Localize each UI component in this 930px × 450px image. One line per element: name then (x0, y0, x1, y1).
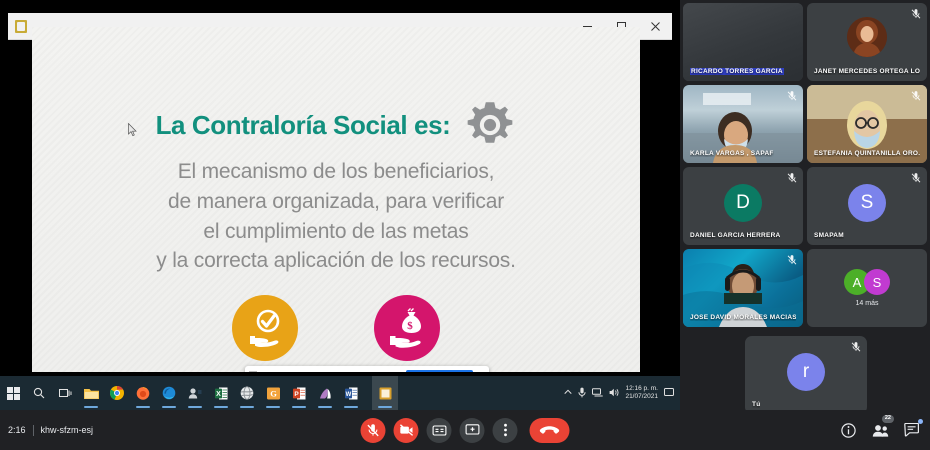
self-view-label: Tú (752, 401, 760, 408)
show-everyone-button[interactable]: 22 (871, 421, 889, 439)
tray-clock[interactable]: 12:16 p. m. 21/07/2021 (625, 385, 658, 401)
meeting-elapsed-time: 2:16 (8, 425, 26, 435)
more-vertical-icon (503, 423, 507, 437)
slide-title-row: La Contraloría Social es: (32, 99, 640, 151)
participant-row: D DANIEL GARCIA HERRERA S (683, 167, 927, 245)
edge-icon (162, 386, 176, 400)
avatar-initial: D (736, 192, 750, 214)
contacts-icon (188, 387, 202, 399)
participant-overflow-tile[interactable]: A S 14 más (807, 249, 927, 327)
shared-screen-region: La Contraloría Social es: El mecanismo d… (0, 0, 680, 410)
taskbar-app-globe[interactable] (234, 376, 260, 410)
mic-off-icon (787, 255, 797, 265)
overflow-avatar-2: S (864, 269, 890, 295)
slide-icon-row: $ (32, 295, 640, 361)
network-icon (592, 388, 603, 397)
mic-off-icon (851, 342, 861, 352)
participant-name: RICARDO TORRES GARCIA (690, 68, 784, 75)
hangup-button[interactable] (530, 418, 570, 443)
hand-check-icon (232, 295, 298, 361)
camera-off-button[interactable] (394, 418, 419, 443)
slide-body-line: El mecanismo de los beneficiarios, (32, 157, 640, 187)
search-icon (33, 387, 45, 399)
participant-tile-janet-mercedes-ortega[interactable]: JANET MERCEDES ORTEGA LO... (807, 3, 927, 81)
task-view-icon (59, 388, 72, 399)
participant-tile-daniel-garcia-herrera[interactable]: D DANIEL GARCIA HERRERA (683, 167, 803, 245)
avatar-initial: S (861, 192, 874, 214)
tray-network-icon[interactable] (592, 388, 603, 399)
meeting-info: 2:16 khw-sfzm-esj (8, 425, 93, 436)
hangup-icon (540, 425, 560, 435)
task-view-button[interactable] (52, 376, 78, 410)
screen-share-notification: meet.google.com está compartiendo tu pan… (245, 366, 489, 372)
svg-text:X: X (216, 391, 221, 398)
chrome-icon (110, 386, 124, 400)
info-icon (841, 423, 856, 438)
participant-initial-avatar: S (848, 184, 886, 222)
taskbar-app-excel[interactable]: X (208, 376, 234, 410)
tray-date: 21/07/2021 (625, 393, 658, 400)
meet-right-actions: 22 (839, 421, 921, 439)
participant-name: ESTEFANIA QUINTANILLA ORO... (814, 150, 920, 157)
microphone-icon (578, 387, 586, 398)
meeting-code[interactable]: khw-sfzm-esj (41, 425, 94, 435)
present-screen-icon (465, 424, 479, 436)
svg-text:W: W (345, 392, 351, 398)
meta-divider (33, 425, 34, 436)
people-icon (872, 424, 889, 437)
start-button[interactable] (0, 376, 26, 410)
participant-tile-ricardo-torres-garcia[interactable]: RICARDO TORRES GARCIA (683, 3, 803, 81)
powerpoint-active-icon (379, 387, 392, 400)
system-tray: 12:16 p. m. 21/07/2021 (564, 385, 680, 401)
avatar-initial: A (853, 275, 862, 290)
participant-row: RICARDO TORRES GARCIA (683, 3, 927, 81)
slide-body-line: de manera organizada, para verificar (32, 187, 640, 217)
participant-name: DANIEL GARCIA HERRERA (690, 232, 780, 239)
taskbar-app-word[interactable]: W (338, 376, 364, 410)
windows-logo-icon (7, 387, 20, 400)
mic-off-icon (911, 173, 921, 183)
taskbar-app-powerpoint[interactable]: P (286, 376, 312, 410)
call-controls (361, 418, 570, 443)
tray-volume-icon[interactable] (609, 388, 619, 399)
avatar-portrait (847, 17, 887, 57)
mic-off-icon (367, 424, 380, 437)
hand-money-icon: $ (374, 295, 440, 361)
participant-name: KARLA VARGAS , SAPAF (690, 150, 774, 157)
meet-control-bar: 2:16 khw-sfzm-esj (0, 410, 930, 450)
participant-row: JOSE DAVID MORALES MACIAS A S 14 más (683, 249, 927, 327)
camera-off-icon (399, 424, 413, 436)
svg-text:$: $ (407, 320, 413, 332)
powerpoint-taskbar-icon: P (293, 387, 306, 400)
svg-text:G: G (270, 388, 277, 398)
participant-name: JOSE DAVID MORALES MACIAS (690, 314, 796, 321)
slide-title: La Contraloría Social es: (156, 110, 451, 141)
self-initial-avatar: r (787, 353, 825, 391)
taskbar-app-firefox[interactable] (130, 376, 156, 410)
taskbar-app-contacts[interactable] (182, 376, 208, 410)
participant-initial-avatar: D (724, 184, 762, 222)
svg-text:P: P (294, 391, 299, 398)
participant-tile-jose-david-morales-macias[interactable]: JOSE DAVID MORALES MACIAS (683, 249, 803, 327)
participant-tile-estefania-quintanilla[interactable]: ESTEFANIA QUINTANILLA ORO... (807, 85, 927, 163)
tray-overflow-button[interactable] (564, 389, 572, 397)
participant-tile-karla-vargas-sapaf[interactable]: KARLA VARGAS , SAPAF (683, 85, 803, 163)
participant-tile-smapam[interactable]: S SMAPAM (807, 167, 927, 245)
participant-row: KARLA VARGAS , SAPAF (683, 85, 927, 163)
taskbar-app-purple[interactable] (312, 376, 338, 410)
meet-screenshare-screen: La Contraloría Social es: El mecanismo d… (0, 0, 930, 450)
mic-off-icon (787, 91, 797, 101)
avatar-initial: S (873, 275, 882, 290)
gear-icon (464, 99, 516, 151)
chat-unread-dot (918, 419, 923, 424)
chat-icon (904, 423, 920, 437)
word-icon: W (345, 387, 358, 400)
presentation-slide: La Contraloría Social es: El mecanismo d… (32, 27, 640, 372)
volume-icon (609, 388, 619, 397)
taskbar-app-orange[interactable]: G (260, 376, 286, 410)
participant-name: SMAPAM (814, 232, 844, 239)
mic-off-icon (787, 173, 797, 183)
stop-sharing-button[interactable]: Dejar de compartir (406, 370, 473, 373)
present-button[interactable] (460, 418, 485, 443)
slide-body-line: el cumplimiento de las metas (32, 217, 640, 247)
overflow-avatars: A S (844, 269, 890, 295)
windows-taskbar: X G P (0, 376, 680, 410)
self-view-tile[interactable]: r Tú (745, 336, 867, 414)
overflow-label: 14 más (856, 300, 879, 307)
taskbar-app-edge[interactable] (156, 376, 182, 410)
excel-icon: X (215, 387, 228, 400)
captions-button[interactable] (427, 418, 452, 443)
orange-app-icon: G (267, 387, 280, 400)
powerpoint-icon (15, 20, 27, 33)
participant-photo-avatar (847, 17, 887, 57)
window-close-button[interactable] (638, 13, 672, 40)
microphone-off-button[interactable] (361, 418, 386, 443)
mic-off-icon (911, 9, 921, 19)
notifications-icon (664, 388, 674, 397)
chevron-up-icon (564, 389, 572, 395)
slide-body-text: El mecanismo de los beneficiarios, de ma… (32, 157, 640, 276)
file-explorer-icon (84, 387, 99, 400)
tray-time: 12:16 p. m. (625, 385, 658, 392)
search-button[interactable] (26, 376, 52, 410)
firefox-icon (136, 386, 150, 400)
taskbar-app-powerpoint-active[interactable] (372, 376, 398, 410)
mic-off-icon (911, 91, 921, 101)
taskbar-app-file-explorer[interactable] (78, 376, 104, 410)
meeting-details-button[interactable] (839, 421, 857, 439)
globe-app-icon (240, 386, 254, 400)
participant-name: JANET MERCEDES ORTEGA LO... (814, 68, 920, 75)
participant-count-badge: 22 (882, 415, 894, 423)
avatar-initial: r (803, 361, 809, 383)
taskbar-app-chrome[interactable] (104, 376, 130, 410)
chat-button[interactable] (903, 421, 921, 439)
tray-microphone-icon[interactable] (578, 387, 586, 400)
drag-handle-icon[interactable] (249, 371, 257, 372)
purple-app-icon (319, 387, 332, 400)
slide-body-line: y la correcta aplicación de los recursos… (32, 246, 640, 276)
tray-notifications-button[interactable] (664, 388, 674, 399)
more-options-button[interactable] (493, 418, 518, 443)
close-icon (651, 22, 660, 31)
captions-icon (432, 425, 446, 436)
